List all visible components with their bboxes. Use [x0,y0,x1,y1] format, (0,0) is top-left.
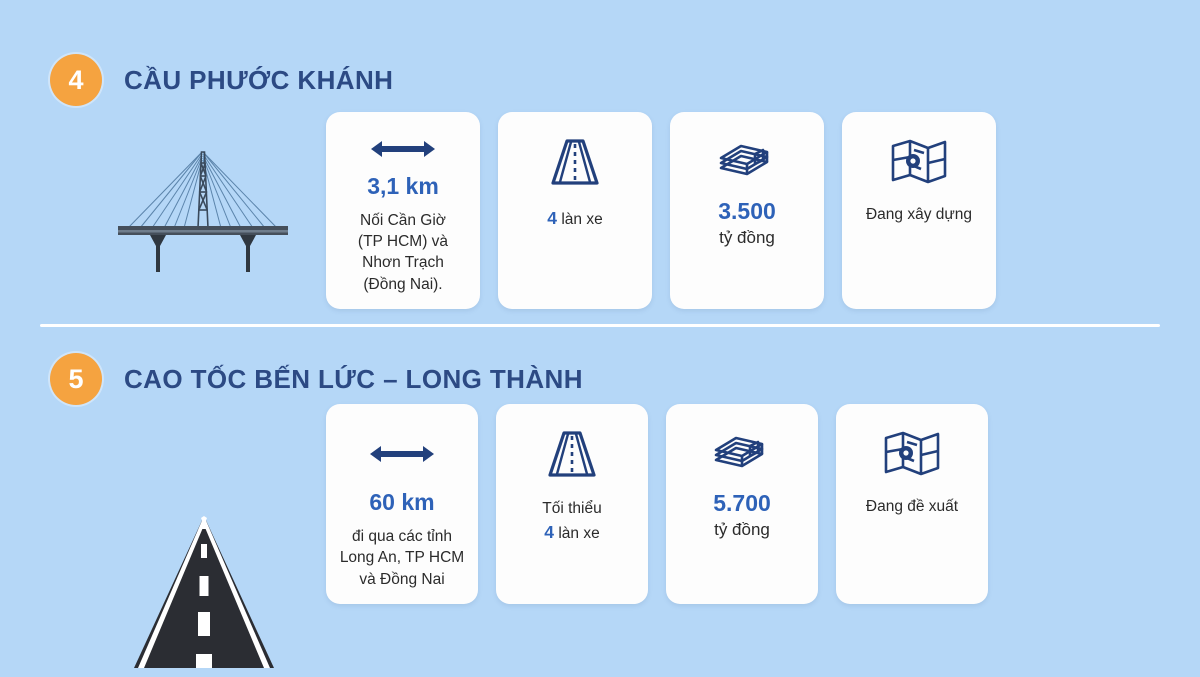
card-status-4[interactable]: Đang xây dựng [842,112,996,309]
section-title-4: CẦU PHƯỚC KHÁNH [124,65,393,96]
card-row-section-5: 60 km đi qua các tỉnh Long An, TP HCM và… [326,404,988,604]
card-row-section-4: 3,1 km Nối Cần Giờ (TP HCM) và Nhơn Trạc… [326,112,996,309]
card-value: 3,1 km [367,173,439,201]
card-value: 5.700 [713,490,771,518]
card-unit: làn xe [558,525,599,542]
card-unit: tỷ đồng [714,519,770,540]
road-lanes-icon [547,134,603,190]
card-status-label: Đang đề xuất [866,496,958,517]
folded-map-pin-icon [881,426,943,482]
section-header-4: 4 CẦU PHƯỚC KHÁNH [50,54,393,106]
card-value: 4 [547,208,557,228]
card-description: Nối Cần Giờ (TP HCM) và Nhơn Trạch (Đồng… [358,210,448,296]
money-stack-icon [715,134,779,190]
section-number-badge-5: 5 [50,353,102,405]
folded-map-pin-icon [888,134,950,190]
section-divider [40,324,1160,327]
card-value: 3.500 [718,198,776,226]
cable-stayed-bridge-illustration [110,132,295,277]
card-lanes-4[interactable]: 4 làn xe [498,112,652,309]
card-prefix: Tối thiểu [542,500,601,517]
section-title-5: CAO TỐC BẾN LỨC – LONG THÀNH [124,364,583,395]
card-unit: tỷ đồng [719,227,775,248]
perspective-highway-illustration [128,508,280,677]
money-stack-icon [710,426,774,482]
card-lane-text: 4 làn xe [547,206,602,231]
card-lanes-5[interactable]: Tối thiểu 4 làn xe [496,404,648,604]
card-length-4[interactable]: 3,1 km Nối Cần Giờ (TP HCM) và Nhơn Trạc… [326,112,480,309]
card-unit: làn xe [561,211,602,228]
card-status-label: Đang xây dựng [866,204,972,225]
card-value: 4 [544,522,554,542]
card-lane-text: 4 làn xe [544,520,599,545]
card-length-5[interactable]: 60 km đi qua các tỉnh Long An, TP HCM và… [326,404,478,604]
card-description: đi qua các tỉnh Long An, TP HCM và Đồng … [340,526,464,590]
double-arrow-horizontal-icon [366,426,438,481]
infographic-page: 4 CẦU PHƯỚC KHÁNH [0,0,1200,672]
card-cost-5[interactable]: 5.700 tỷ đồng [666,404,818,604]
card-status-5[interactable]: Đang đề xuất [836,404,988,604]
card-cost-4[interactable]: 3.500 tỷ đồng [670,112,824,309]
section-number-badge-4: 4 [50,54,102,106]
card-lane-prefix-text: Tối thiểu [542,498,601,520]
section-header-5: 5 CAO TỐC BẾN LỨC – LONG THÀNH [50,353,583,405]
double-arrow-horizontal-icon [367,134,439,165]
card-value: 60 km [369,489,434,517]
road-lanes-icon [544,426,600,482]
